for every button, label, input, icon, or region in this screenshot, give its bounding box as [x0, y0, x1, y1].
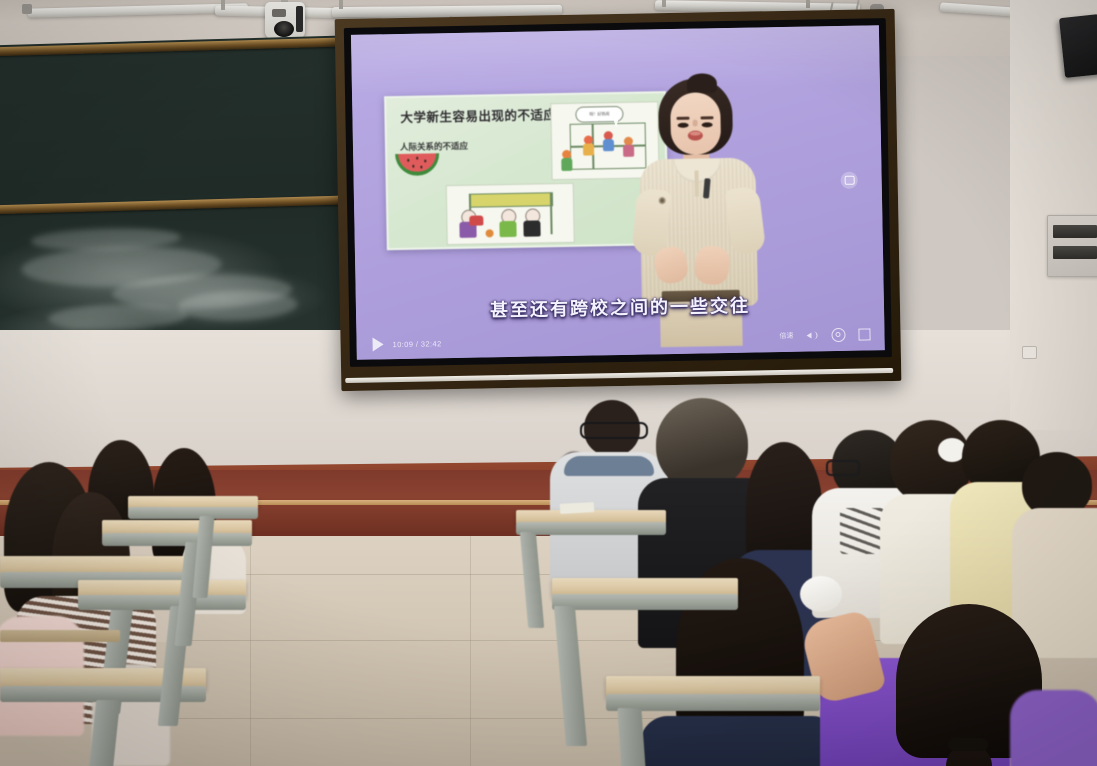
video-caption: 甚至还有跨校之间的一些交往	[356, 289, 884, 325]
slide-title: 大学新生容易出现的不适应	[400, 104, 556, 126]
settings-icon[interactable]	[831, 328, 845, 342]
dorm-bunk-bed-cartoon	[446, 183, 575, 245]
screen-glare	[351, 25, 880, 95]
lecture-slide: 大学新生容易出现的不适应 人际关系的不适应 呀！好热闹	[384, 91, 669, 250]
projection-screen[interactable]: 大学新生容易出现的不适应 人际关系的不适应 呀！好热闹	[351, 25, 885, 360]
volume-icon[interactable]	[806, 329, 818, 341]
screenshot-button[interactable]	[841, 172, 858, 189]
wall-speaker	[1059, 14, 1097, 78]
glasses-icon	[826, 460, 860, 476]
presenter-placket	[694, 171, 698, 197]
light-hanger	[806, 0, 810, 8]
watermelon-graphic	[395, 153, 440, 198]
slide-subtitle: 人际关系的不适应	[400, 140, 468, 153]
paper-sheet	[560, 502, 594, 514]
classroom-photo: 大学新生容易出现的不适应 人际关系的不适应 呀！好热闹	[0, 0, 1097, 766]
light-end-cap	[22, 4, 32, 14]
video-player[interactable]: 大学新生容易出现的不适应 人际关系的不适应 呀！好热闹	[351, 25, 885, 360]
projection-screen-frame: 大学新生容易出现的不适应 人际关系的不适应 呀！好热闹	[335, 9, 902, 391]
play-icon[interactable]	[372, 337, 383, 351]
light-switch[interactable]	[1022, 346, 1037, 359]
fullscreen-icon[interactable]	[858, 328, 870, 340]
playback-speed-button[interactable]: 倍速	[779, 331, 793, 341]
light-hanger	[339, 0, 343, 9]
light-hanger	[221, 0, 225, 10]
hair-tie-icon	[948, 738, 988, 751]
presenter-hair-bun	[687, 73, 717, 94]
electrical-panel	[1047, 215, 1097, 277]
projector-side-panel	[296, 6, 303, 32]
player-controls-right: 倍速	[779, 327, 870, 343]
flower-pin-icon: ✺	[658, 197, 668, 207]
screen-bezel: 大学新生容易出现的不适应 人际关系的不适应 呀！好热闹	[344, 18, 892, 367]
camera-icon	[844, 176, 854, 185]
time-display: 10:09 / 32:42	[393, 339, 442, 349]
ceiling-projector-unit	[265, 2, 305, 40]
glasses-icon	[580, 422, 648, 439]
presenter-arm	[724, 186, 766, 256]
screen-frame-lip	[345, 368, 893, 383]
projector-lens-icon	[274, 21, 294, 37]
light-hanger	[662, 0, 666, 7]
student-desk	[128, 496, 268, 606]
player-controls-left: 10:09 / 32:42	[372, 336, 441, 351]
student-desk	[606, 676, 836, 766]
projector-vent	[272, 9, 286, 17]
presenter-nose	[693, 120, 698, 127]
